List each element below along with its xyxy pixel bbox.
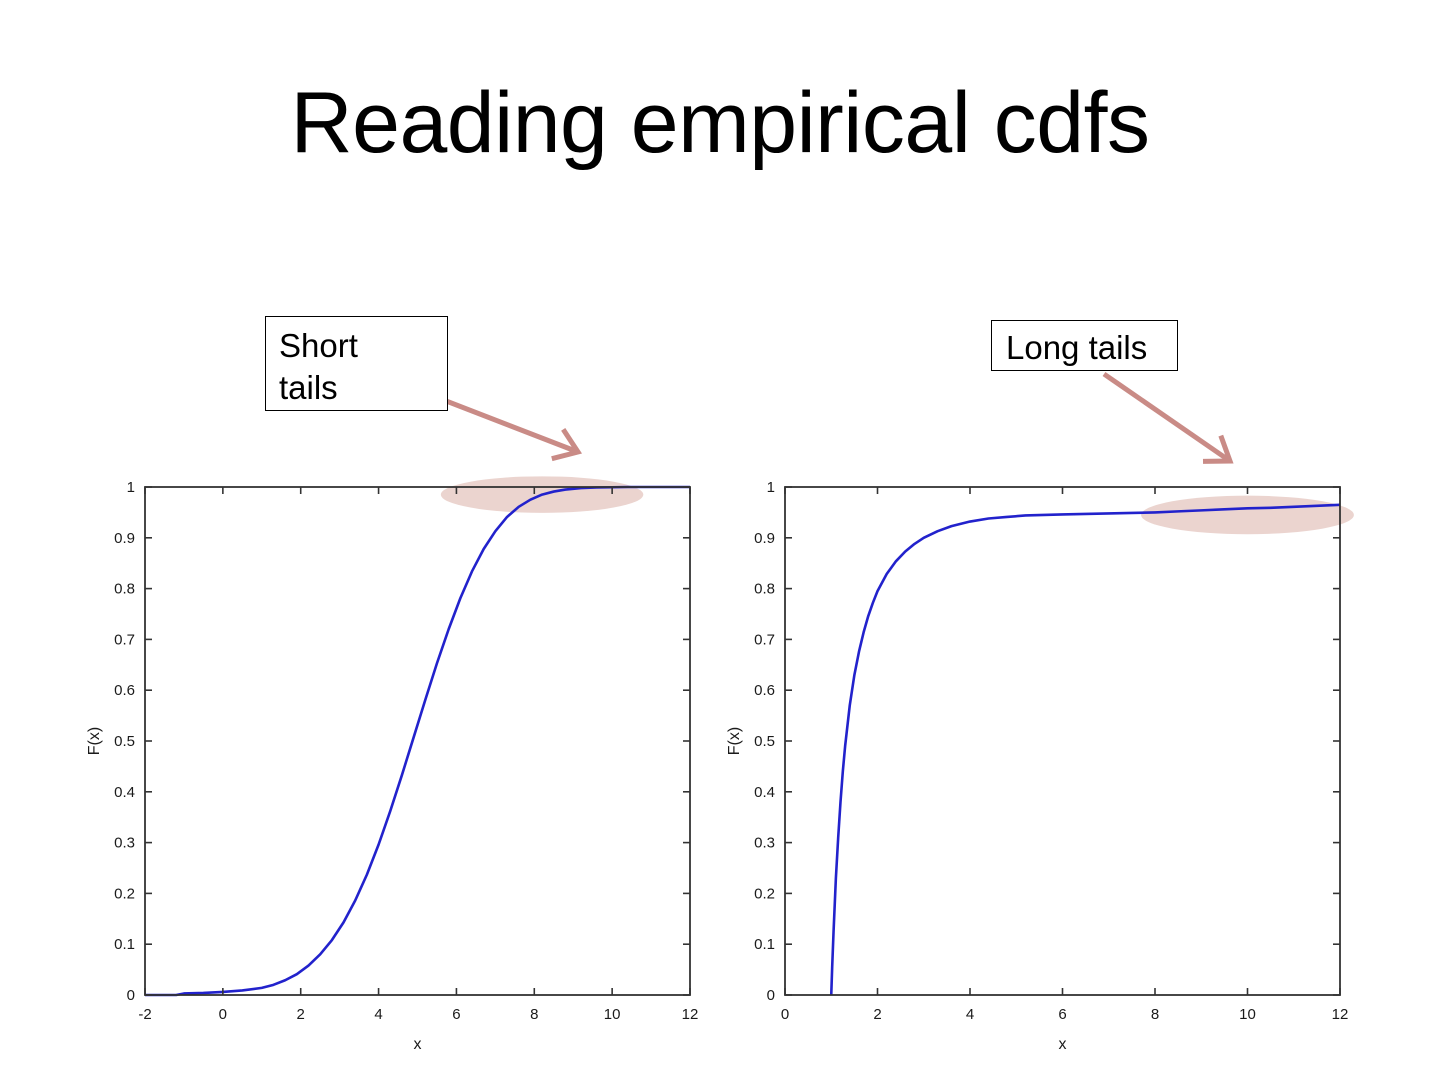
left-chart-ylabel: F(x): [86, 727, 103, 755]
left-chart-xtick-label: 2: [297, 1006, 305, 1023]
page-title: Reading empirical cdfs: [0, 78, 1440, 168]
arrow-long-tails: [1104, 374, 1230, 461]
right-chart-ytick-label: 0.8: [754, 581, 775, 598]
left-chart-ytick-label: 0: [127, 987, 135, 1004]
left-chart-ytick-label: 0.2: [114, 885, 135, 902]
right-chart-curve: [831, 505, 1340, 995]
right-chart-xtick-label: 12: [1332, 1006, 1349, 1023]
left-chart-xtick-label: 12: [682, 1006, 699, 1023]
callout-short-tails-line-1: Short: [279, 325, 447, 367]
arrow-shaft: [1104, 374, 1230, 461]
left-chart-axes-frame: [145, 487, 690, 995]
left-chart-ytick-label: 1: [127, 479, 135, 496]
callout-short-tails: Short tails: [265, 316, 448, 411]
left-chart-ytick-label: 0.6: [114, 682, 135, 699]
left-chart-xtick-label: 4: [374, 1006, 382, 1023]
right-chart-ytick-label: 0.6: [754, 682, 775, 699]
right-chart-xtick-label: 8: [1151, 1006, 1159, 1023]
right-chart-xtick-label: 4: [966, 1006, 974, 1023]
right-chart-tail-highlight: [1141, 496, 1354, 535]
left-chart-xtick-label: 0: [219, 1006, 227, 1023]
right-chart-xtick-label: 10: [1239, 1006, 1256, 1023]
right-chart-xlabel: x: [1059, 1036, 1067, 1053]
callout-short-tails-line-2: tails: [279, 367, 447, 409]
left-chart-ytick-label: 0.3: [114, 835, 135, 852]
right-chart-ytick-label: 0.5: [754, 733, 775, 750]
left-chart-xtick-label: -2: [138, 1006, 151, 1023]
callout-long-tails-line-1: Long tails: [1006, 327, 1177, 369]
left-chart-ytick-label: 0.1: [114, 936, 135, 953]
right-chart-xtick-label: 6: [1058, 1006, 1066, 1023]
right-chart-ytick-label: 0.2: [754, 885, 775, 902]
right-chart-xtick-label: 0: [781, 1006, 789, 1023]
right-chart-xtick-label: 2: [873, 1006, 881, 1023]
left-chart-ytick-label: 0.4: [114, 784, 135, 801]
left-chart-svg: -202468101200.10.20.30.40.50.60.70.80.91…: [60, 455, 720, 1075]
right-chart-ytick-label: 0.3: [754, 835, 775, 852]
callout-long-tails: Long tails: [991, 320, 1178, 371]
left-chart-xlabel: x: [414, 1036, 422, 1053]
right-chart-ytick-label: 0.9: [754, 530, 775, 547]
chart-left-short-tails: -202468101200.10.20.30.40.50.60.70.80.91…: [60, 455, 720, 1075]
left-chart-xtick-label: 6: [452, 1006, 460, 1023]
left-chart-xtick-label: 8: [530, 1006, 538, 1023]
left-chart-ytick-label: 0.9: [114, 530, 135, 547]
right-chart-ytick-label: 0.1: [754, 936, 775, 953]
right-chart-ytick-label: 1: [767, 479, 775, 496]
left-chart-ytick-label: 0.7: [114, 631, 135, 648]
left-chart-curve: [145, 487, 690, 995]
right-chart-ytick-label: 0.7: [754, 631, 775, 648]
left-chart-xtick-label: 10: [604, 1006, 621, 1023]
right-chart-ytick-label: 0: [767, 987, 775, 1004]
chart-right-long-tails: 02468101200.10.20.30.40.50.60.70.80.91xF…: [700, 455, 1380, 1075]
left-chart-ytick-label: 0.8: [114, 581, 135, 598]
right-chart-svg: 02468101200.10.20.30.40.50.60.70.80.91xF…: [700, 455, 1380, 1075]
right-chart-axes-frame: [785, 487, 1340, 995]
right-chart-ylabel: F(x): [726, 727, 743, 755]
right-chart-ytick-label: 0.4: [754, 784, 775, 801]
left-chart-ytick-label: 0.5: [114, 733, 135, 750]
